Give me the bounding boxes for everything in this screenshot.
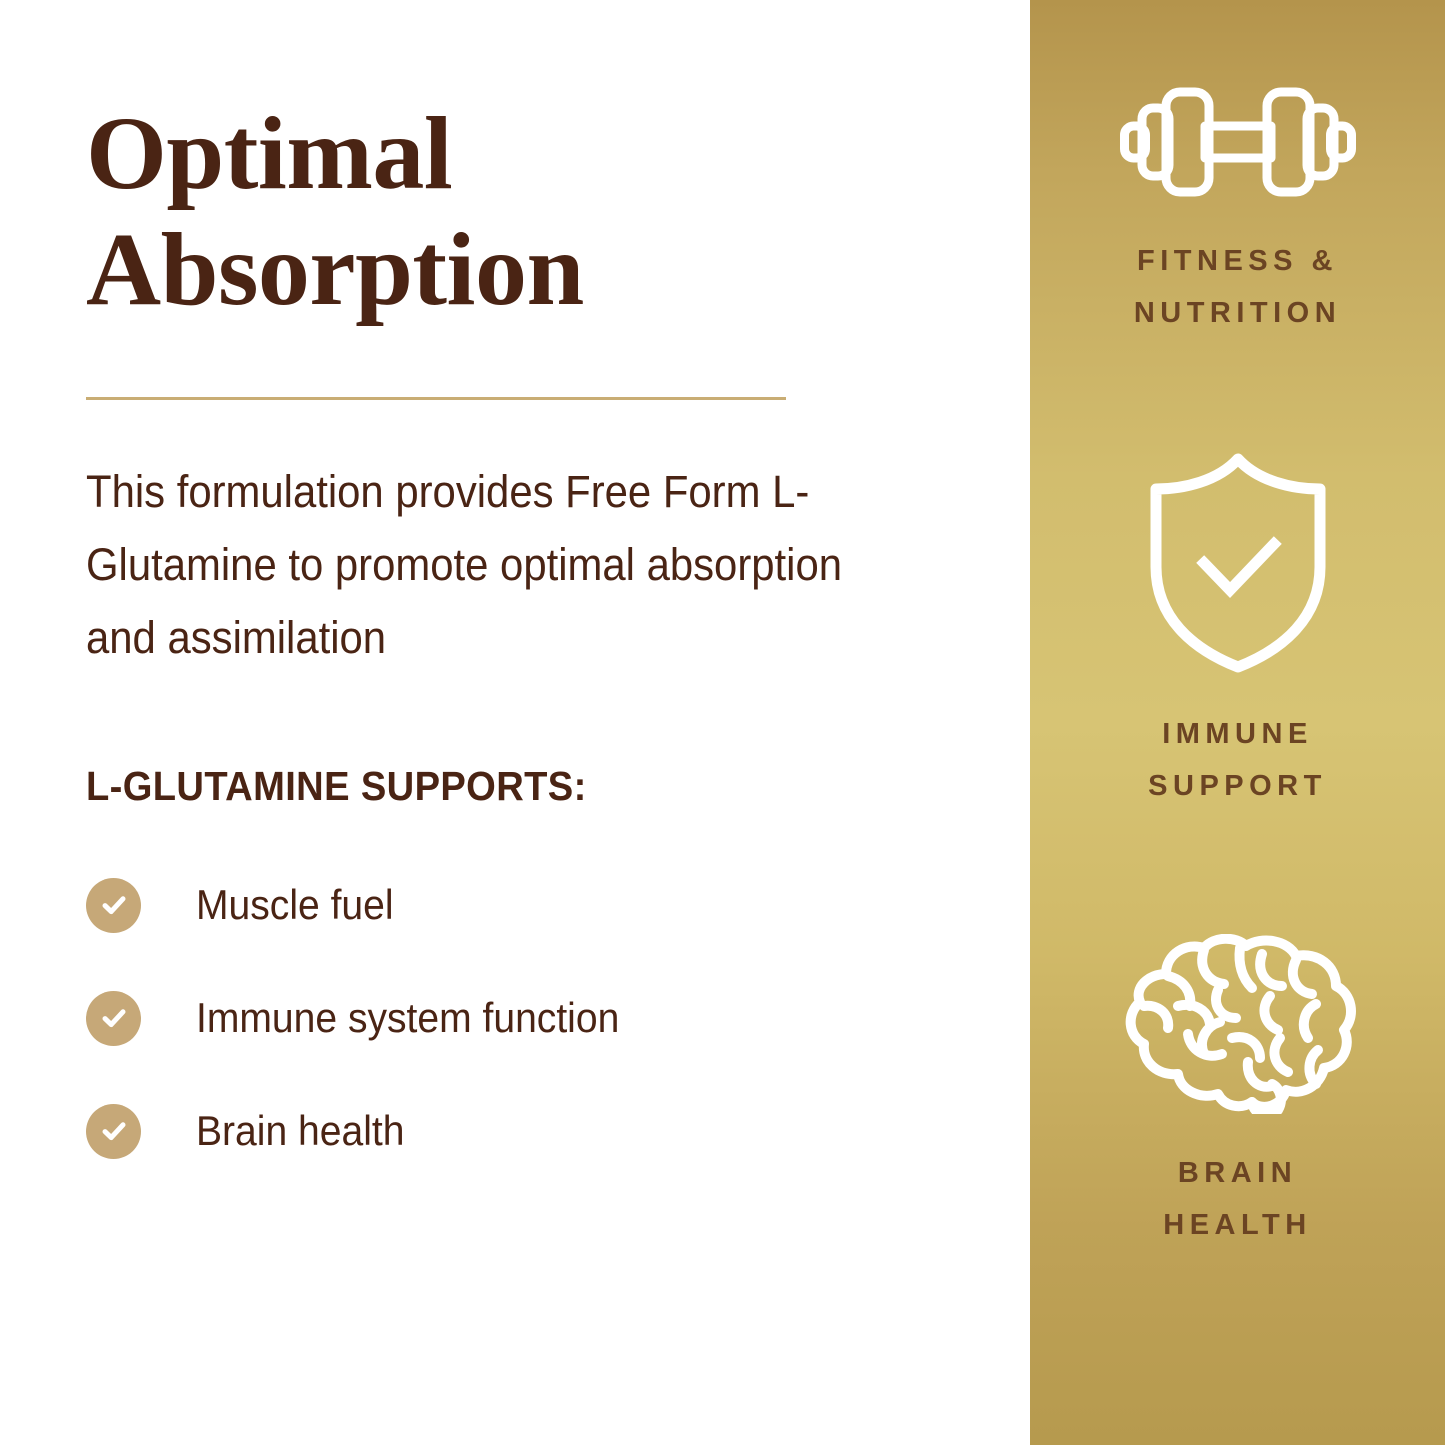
list-item: Brain health (86, 1104, 1030, 1159)
check-circle-icon (86, 991, 141, 1046)
check-circle-icon (86, 878, 141, 933)
list-item-label: Brain health (196, 1108, 404, 1154)
title-divider (86, 397, 786, 400)
page-title: Optimal Absorption (86, 96, 906, 329)
list-item: Immune system function (86, 991, 1030, 1046)
brain-icon (1112, 934, 1364, 1114)
feature-fitness-nutrition: FITNESS & NUTRITION (1030, 82, 1445, 339)
supports-heading: L-GLUTAMINE SUPPORTS: (86, 763, 964, 810)
feature-immune-support: IMMUNE SUPPORT (1030, 451, 1445, 812)
supports-list: Muscle fuel Immune system function Brain… (86, 878, 1030, 1159)
intro-paragraph: This formulation provides Free Form L-Gl… (86, 456, 849, 675)
shield-check-icon (1140, 451, 1336, 675)
list-item: Muscle fuel (86, 878, 1030, 933)
feature-label: IMMUNE SUPPORT (1148, 709, 1327, 812)
infographic-page: Optimal Absorption This formulation prov… (0, 0, 1445, 1445)
content-panel: Optimal Absorption This formulation prov… (0, 0, 1030, 1445)
check-circle-icon (86, 1104, 141, 1159)
feature-label: BRAIN HEALTH (1163, 1148, 1311, 1251)
feature-label: FITNESS & NUTRITION (1134, 236, 1341, 339)
list-item-label: Immune system function (196, 995, 619, 1041)
list-item-label: Muscle fuel (196, 882, 394, 928)
feature-brain-health: BRAIN HEALTH (1030, 934, 1445, 1251)
dumbbell-icon (1119, 82, 1357, 202)
feature-sidebar: FITNESS & NUTRITION IMMUNE SUPPORT (1030, 0, 1445, 1445)
